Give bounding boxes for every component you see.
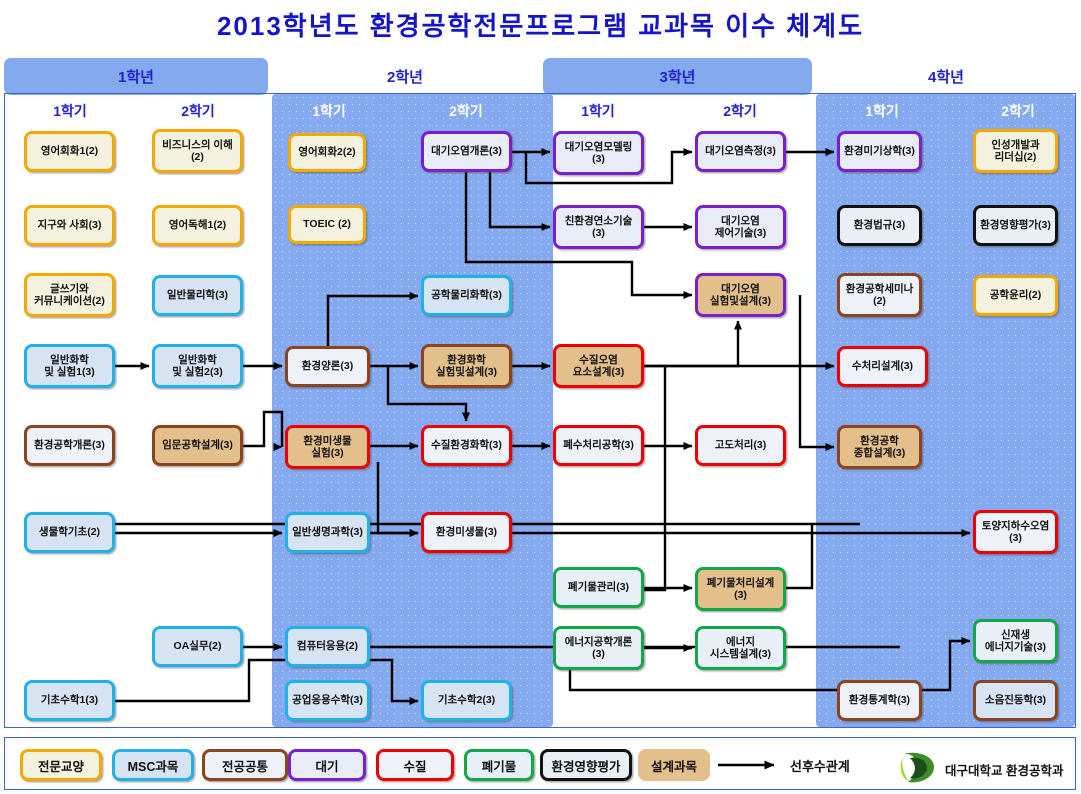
course-box[interactable]: 일반물리학(3) [152, 275, 243, 316]
course-label: 일반화학 및 실험1(3) [44, 354, 95, 379]
course-box[interactable]: OA실무(2) [152, 626, 243, 667]
course-label: 대기오염측정(3) [705, 145, 776, 157]
course-box[interactable]: 영어회화1(2) [24, 131, 115, 172]
semester-label-4-1: 1학기 [836, 101, 928, 121]
year-header-3: 3학년 [543, 58, 812, 95]
legend-item: 전공공통 [202, 749, 288, 781]
course-box[interactable]: 소음진동학(3) [973, 680, 1058, 721]
course-box[interactable]: 수처리설계(3) [837, 346, 928, 387]
course-box[interactable]: 환경화학 실험및설계(3) [421, 344, 512, 388]
course-label: 폐기물처리설계 (3) [707, 577, 775, 602]
course-label: 일반물리학(3) [167, 289, 228, 301]
course-label: 일반화학 및 실험2(3) [172, 354, 223, 379]
course-label: 대기오염모델링 (3) [565, 141, 633, 166]
semester-label-2-2: 2학기 [420, 101, 512, 121]
course-label: 수질오염 요소설계(3) [573, 354, 624, 379]
course-label: 글쓰기와 커뮤니케이션(2) [34, 283, 105, 308]
course-label: 대기오염 실험및설계(3) [710, 283, 771, 308]
course-box[interactable]: 기초수학2(3) [421, 680, 512, 721]
course-label: 생물학기초(2) [39, 526, 100, 538]
semester-text: 2학기 [1001, 103, 1035, 119]
course-box[interactable]: 공업응용수학(3) [285, 680, 370, 721]
course-box[interactable]: 비즈니스의 이해 (2) [152, 129, 243, 173]
course-box[interactable]: 환경양론(3) [285, 346, 370, 387]
course-label: 환경공학개론(3) [34, 439, 105, 451]
year-header-1-label: 1학년 [118, 66, 154, 87]
semester-text: 2학기 [723, 103, 757, 119]
course-label: 소음진동학(3) [985, 694, 1046, 706]
course-label: 친환경연소기술 (3) [565, 215, 633, 240]
course-label: 컴퓨터응용(2) [297, 640, 358, 652]
course-box[interactable]: 영어회화2(2) [288, 133, 366, 172]
university-label: 대구대학교 환경공학과 [945, 760, 1063, 779]
course-label: TOEIC (2) [303, 218, 351, 230]
semester-label-1-1: 1학기 [24, 101, 116, 121]
course-box[interactable]: 기초수학1(3) [24, 680, 115, 721]
semester-text: 1학기 [865, 103, 899, 119]
course-box[interactable]: 대기오염개론(3) [421, 131, 512, 172]
course-box[interactable]: 친환경연소기술 (3) [553, 205, 644, 249]
course-box[interactable]: 환경미생물 실험(3) [285, 425, 370, 469]
course-label: 환경법규(3) [854, 219, 905, 231]
year-header-1: 1학년 [4, 58, 268, 95]
semester-text: 1학기 [581, 103, 615, 119]
course-box[interactable]: 에너지 시스템설계(3) [695, 626, 786, 670]
course-box[interactable]: 대기오염모델링 (3) [553, 131, 644, 175]
course-label: 인성개발과 리더십(2) [991, 139, 1039, 164]
course-label: 폐기물관리(3) [568, 581, 629, 593]
course-label: 영어독해1(2) [169, 219, 226, 231]
course-box[interactable]: 에너지공학개론 (3) [553, 626, 644, 670]
semester-text: 1학기 [53, 103, 87, 119]
course-label: 대기오염 제어기술(3) [715, 215, 766, 240]
course-box[interactable]: 공학물리화학(3) [421, 275, 512, 316]
legend-item: 설계과목 [638, 749, 710, 781]
course-box[interactable]: 글쓰기와 커뮤니케이션(2) [24, 273, 115, 317]
legend-arrow-icon [716, 757, 786, 773]
semester-label-3-1: 1학기 [552, 101, 644, 121]
course-label: 환경공학 종합설계(3) [854, 435, 905, 460]
course-box[interactable]: 환경공학세미나 (2) [837, 273, 922, 317]
course-label: 기초수학2(3) [438, 694, 495, 706]
course-box[interactable]: 대기오염측정(3) [695, 131, 786, 172]
course-label: 공학윤리(2) [990, 289, 1041, 301]
semester-label-1-2: 2학기 [152, 101, 244, 121]
course-label: 일반생명과학(3) [292, 526, 363, 538]
course-box[interactable]: TOEIC (2) [288, 205, 366, 244]
course-box[interactable]: 환경공학 종합설계(3) [837, 425, 922, 469]
course-box[interactable]: 일반화학 및 실험1(3) [24, 344, 115, 388]
course-label: 임문공학설계(3) [162, 439, 233, 451]
course-box[interactable]: 고도처리(3) [695, 425, 786, 466]
course-label: 환경통계학(3) [849, 694, 910, 706]
course-label: 환경공학세미나 (2) [846, 283, 914, 308]
course-box[interactable]: 환경미생물(3) [421, 512, 512, 553]
course-box[interactable]: 일반화학 및 실험2(3) [152, 344, 243, 388]
course-box[interactable]: 토양지하수오염 (3) [973, 510, 1058, 554]
course-box[interactable]: 폐기물관리(3) [553, 567, 644, 608]
university-logo-icon [896, 748, 940, 786]
course-box[interactable]: 대기오염 제어기술(3) [695, 205, 786, 249]
course-label: 공업응용수학(3) [292, 694, 363, 706]
legend-item: 폐기물 [464, 749, 534, 781]
legend-item: 대기 [288, 749, 366, 781]
course-label: 환경미생물(3) [436, 526, 497, 538]
course-label: OA실무(2) [174, 640, 222, 652]
course-label: 환경미생물 실험(3) [303, 435, 351, 460]
course-box[interactable]: 환경영향평가(3) [973, 205, 1058, 246]
legend-item: MSC과목 [112, 749, 194, 781]
course-label: 지구와 사회(3) [37, 219, 101, 231]
legend-item: 수질 [376, 749, 454, 781]
year-header-4: 4학년 [816, 58, 1076, 95]
course-label: 수처리설계(3) [852, 360, 913, 372]
year-header-4-label: 4학년 [928, 66, 964, 87]
legend-item: 전문교양 [20, 749, 102, 781]
semester-label-3-2: 2학기 [694, 101, 786, 121]
page-title: 2013학년도 환경공학전문프로그램 교과목 이수 체계도 [0, 6, 1081, 43]
course-box[interactable]: 지구와 사회(3) [24, 205, 115, 246]
course-box[interactable]: 수질환경화학(3) [421, 425, 512, 466]
course-box[interactable]: 일반생명과학(3) [285, 512, 370, 553]
year-header-3-label: 3학년 [660, 66, 696, 87]
course-label: 에너지 시스템설계(3) [710, 636, 771, 661]
year-header-2-label: 2학년 [387, 66, 423, 87]
course-label: 환경양론(3) [302, 360, 353, 372]
semester-text: 2학기 [181, 103, 215, 119]
course-label: 영어회화2(2) [298, 146, 355, 158]
course-label: 기초수학1(3) [41, 694, 98, 706]
course-label: 폐수처리공학(3) [563, 439, 634, 451]
course-box[interactable]: 대기오염 실험및설계(3) [695, 273, 786, 317]
course-box[interactable]: 영어독해1(2) [152, 205, 243, 246]
course-box[interactable]: 수질오염 요소설계(3) [553, 344, 644, 388]
course-label: 영어회화1(2) [41, 145, 98, 157]
course-label: 비즈니스의 이해 (2) [162, 139, 233, 164]
course-label: 환경화학 실험및설계(3) [436, 354, 497, 379]
course-label: 환경영향평가(3) [980, 219, 1051, 231]
course-box[interactable]: 컴퓨터응용(2) [285, 626, 370, 667]
course-label: 수질환경화학(3) [431, 439, 502, 451]
course-label: 공학물리화학(3) [431, 289, 502, 301]
course-box[interactable]: 생물학기초(2) [24, 512, 115, 553]
course-label: 에너지공학개론 (3) [565, 636, 633, 661]
course-box[interactable]: 임문공학설계(3) [152, 425, 243, 466]
course-box[interactable]: 공학윤리(2) [973, 275, 1058, 316]
course-label: 대기오염개론(3) [431, 145, 502, 157]
course-box[interactable]: 환경공학개론(3) [24, 425, 115, 466]
semester-text: 1학기 [312, 103, 346, 119]
semester-label-2-1: 1학기 [283, 101, 375, 121]
course-label: 고도처리(3) [715, 439, 766, 451]
course-label: 환경미기상학(3) [844, 145, 915, 157]
course-box[interactable]: 인성개발과 리더십(2) [973, 129, 1058, 173]
course-box[interactable]: 폐수처리공학(3) [553, 425, 644, 466]
course-box[interactable]: 환경법규(3) [837, 205, 922, 246]
diagram-root: 2013학년도 환경공학전문프로그램 교과목 이수 체계도 1학년 2학년 3학… [0, 0, 1081, 794]
course-box[interactable]: 환경미기상학(3) [837, 131, 922, 172]
semester-label-4-2: 2학기 [972, 101, 1064, 121]
course-box[interactable]: 폐기물처리설계 (3) [695, 567, 786, 611]
course-box[interactable]: 환경통계학(3) [837, 680, 922, 721]
legend-item: 환경영향평가 [540, 749, 632, 781]
course-label: 토양지하수오염 (3) [982, 520, 1050, 545]
legend-arrow-label: 선후수관계 [790, 756, 850, 775]
course-label: 신재생 에너지기술(3) [985, 629, 1046, 654]
year-header-2: 2학년 [272, 58, 538, 95]
course-box[interactable]: 신재생 에너지기술(3) [973, 619, 1058, 663]
semester-text: 2학기 [449, 103, 483, 119]
